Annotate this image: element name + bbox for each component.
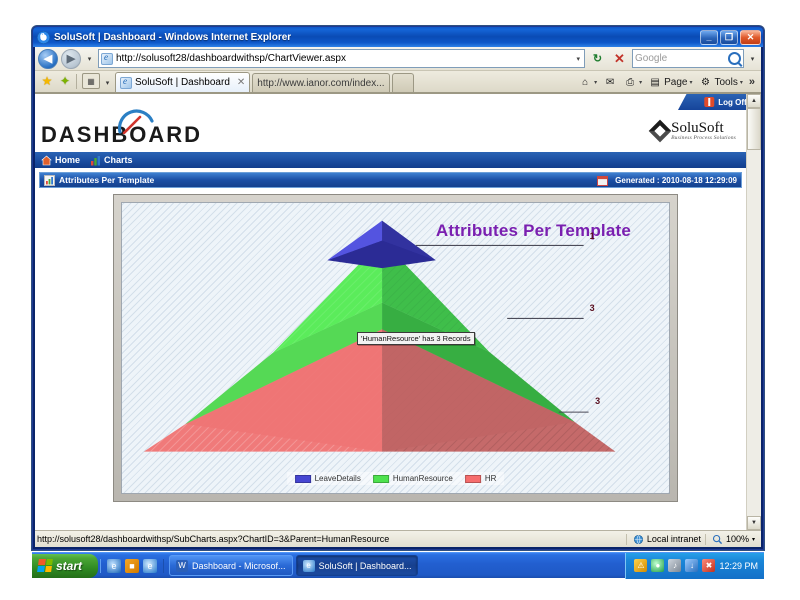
tray-network-icon[interactable]: ● (651, 559, 664, 572)
windows-taskbar: start e ■ e W Dashboard - Microsof... e … (32, 552, 764, 578)
legend-swatch (373, 475, 389, 483)
toolbar-overflow-icon[interactable]: » (747, 76, 757, 88)
tools-menu-label: Tools (715, 77, 738, 88)
word-document-icon: W (176, 560, 188, 572)
window-controls: _ ❐ ✕ (700, 30, 761, 45)
bar-chart-icon (90, 155, 101, 166)
task-buttons: W Dashboard - Microsof... e SoluSoft | D… (164, 555, 625, 576)
security-zone-label: Local intranet (647, 534, 701, 544)
logoff-button[interactable]: Log Off (678, 94, 746, 110)
task-label: Dashboard - Microsof... (192, 561, 286, 571)
nav-item-home[interactable]: Home (41, 155, 80, 166)
tab-label: http://www.ianor.com/index... (257, 78, 384, 89)
chevron-down-icon: ▾ (689, 79, 692, 86)
solusoft-logo: SoluSoft Business Process Solutions (652, 121, 736, 142)
screen-root: SoluSoft | Dashboard - Windows Internet … (0, 0, 800, 600)
chart-tooltip: 'HumanResource' has 3 Records (357, 332, 475, 345)
tab-solusoft-dashboard[interactable]: SoluSoft | Dashboard ✕ (115, 72, 250, 92)
pyramid-chart[interactable] (122, 203, 669, 493)
address-bar[interactable]: http://solusoft28/dashboardwithsp/ChartV… (98, 49, 585, 68)
back-button[interactable]: ◀ (38, 49, 58, 69)
legend-swatch (295, 475, 311, 483)
zoom-icon (712, 534, 723, 545)
task-button-dashboard-word[interactable]: W Dashboard - Microsof... (169, 555, 293, 576)
solusoft-name: SoluSoft (671, 121, 736, 136)
page-viewport: Log Off DASHBOARD (35, 93, 761, 530)
diamond-icon (649, 120, 672, 143)
tools-menu[interactable]: ⚙ Tools ▾ (697, 74, 745, 90)
stop-button[interactable]: ✕ (610, 49, 629, 68)
legend-item-humanresource[interactable]: HumanResource (373, 474, 453, 483)
history-dropdown-icon[interactable]: ▾ (84, 50, 95, 68)
print-command[interactable]: ⎙ ▾ (621, 74, 644, 90)
tab-list-dropdown-icon[interactable]: ▾ (102, 74, 113, 92)
nav-item-charts[interactable]: Charts (90, 155, 133, 166)
brand-header: DASHBOARD SoluSoft Business Process Solu… (35, 110, 746, 152)
start-button[interactable]: start (32, 554, 98, 578)
window-titlebar[interactable]: SoluSoft | Dashboard - Windows Internet … (33, 27, 763, 47)
stop-icon: ✕ (614, 51, 625, 67)
search-input[interactable]: Google (635, 53, 728, 64)
gauge-icon (118, 108, 154, 134)
legend-swatch (465, 475, 481, 483)
mail-icon: ✉ (603, 75, 617, 89)
tray-antivirus-icon[interactable]: ✖ (702, 559, 715, 572)
calendar-icon (597, 175, 608, 186)
scroll-up-button[interactable]: ▲ (747, 94, 761, 108)
panel-title: Attributes Per Template (59, 175, 154, 185)
nav-label: Charts (104, 155, 133, 165)
taskbar-clock[interactable]: 12:29 PM (719, 561, 758, 571)
logoff-region: Log Off (678, 94, 746, 110)
chart-legend: LeaveDetails HumanResource HR (287, 472, 505, 485)
intranet-icon (633, 534, 644, 545)
status-bar: http://solusoft28/dashboardwithsp/SubCha… (35, 530, 761, 547)
nav-label: Home (55, 155, 80, 165)
scrollbar-thumb[interactable] (747, 108, 761, 150)
chevron-down-icon: ▾ (594, 79, 597, 86)
scrollbar-track[interactable] (747, 108, 761, 516)
tray-volume-icon[interactable]: ♪ (668, 559, 681, 572)
command-bar: ⌂ ▾ ✉ ⎙ ▾ ▤ Page ▾ (576, 74, 757, 92)
restore-button[interactable]: ❐ (720, 30, 738, 45)
tab-bar: ★ ✦ ▦ ▾ SoluSoft | Dashboard ✕ http://ww… (35, 71, 761, 93)
show-desktop-icon[interactable]: ■ (125, 559, 139, 573)
legend-label: HR (485, 474, 497, 483)
dashboard-page: Log Off DASHBOARD (35, 94, 746, 530)
system-tray: ⚠ ● ♪ ↓ ✖ 12:29 PM (625, 553, 764, 579)
page-scrollbar[interactable]: ▲ ▼ (746, 94, 761, 530)
window-title: SoluSoft | Dashboard - Windows Internet … (54, 32, 700, 43)
page-menu[interactable]: ▤ Page ▾ (646, 74, 694, 90)
zoom-level: 100% (726, 534, 749, 544)
gear-icon: ⚙ (699, 75, 713, 89)
close-button[interactable]: ✕ (740, 30, 761, 45)
solusoft-tagline: Business Process Solutions (671, 136, 736, 142)
ie-logo-icon (37, 31, 50, 44)
favorites-center-icon[interactable]: ★ (39, 73, 55, 89)
tray-update-icon[interactable]: ↓ (685, 559, 698, 572)
internet-explorer-icon: e (303, 560, 315, 572)
site-nav-bar: Home Charts (35, 152, 746, 168)
home-icon: ⌂ (578, 75, 592, 89)
chart-panel: Attributes Per Template (113, 194, 678, 502)
restore-icon: ❐ (721, 31, 737, 44)
page-favicon-icon (101, 53, 113, 65)
task-button-solusoft-dashboard[interactable]: e SoluSoft | Dashboard... (296, 555, 419, 576)
quick-tabs-button[interactable]: ▦ (82, 73, 100, 89)
tab-close-icon[interactable]: ✕ (237, 77, 245, 88)
dashboard-logo: DASHBOARD (41, 114, 202, 148)
browser-window: SoluSoft | Dashboard - Windows Internet … (32, 26, 764, 550)
navigation-toolbar: ◀ ▶ ▾ http://solusoft28/dashboardwithsp/… (35, 47, 761, 71)
generated-timestamp: Generated : 2010-08-18 12:29:09 (615, 176, 737, 185)
tray-security-icon[interactable]: ⚠ (634, 559, 647, 572)
refresh-icon: ↻ (593, 52, 602, 65)
browser-shortcut-icon[interactable]: e (143, 559, 157, 573)
logoff-label: Log Off (718, 98, 746, 107)
browser-chrome: ◀ ▶ ▾ http://solusoft28/dashboardwithsp/… (35, 47, 761, 547)
tab-favicon-icon (120, 77, 132, 89)
chevron-down-icon: ▾ (740, 79, 743, 86)
quick-launch-bar: e ■ e (100, 559, 164, 573)
status-link-url: http://solusoft28/dashboardwithsp/SubCha… (37, 534, 622, 544)
start-label: start (56, 559, 82, 573)
minimize-icon: _ (701, 31, 717, 44)
bar-chart-icon (44, 175, 55, 186)
printer-icon: ⎙ (623, 75, 637, 89)
legend-label: LeaveDetails (315, 474, 361, 483)
chart-canvas[interactable]: Attributes Per Template (121, 202, 670, 494)
address-dropdown-icon[interactable]: ▾ (574, 55, 582, 63)
windows-flag-icon (37, 559, 53, 572)
scroll-down-button[interactable]: ▼ (747, 516, 761, 530)
tab-label: SoluSoft | Dashboard (135, 77, 230, 88)
forward-button[interactable]: ▶ (61, 49, 81, 69)
panel-generated: Generated : 2010-08-18 12:29:09 (597, 175, 737, 186)
forward-arrow-icon: ▶ (62, 50, 80, 68)
minimize-button[interactable]: _ (700, 30, 718, 45)
search-provider-dropdown-icon[interactable]: ▾ (747, 50, 758, 68)
tab-ianor[interactable]: http://www.ianor.com/index... (252, 73, 389, 92)
toolbar-separator (76, 74, 77, 89)
security-zone[interactable]: Local intranet (626, 534, 701, 545)
logoff-icon (704, 97, 714, 107)
legend-label: HumanResource (393, 474, 453, 483)
search-box[interactable]: Google (632, 49, 744, 68)
back-arrow-icon: ◀ (39, 50, 57, 68)
search-icon[interactable] (728, 52, 741, 65)
page-icon: ▤ (648, 75, 662, 89)
new-tab-button[interactable] (392, 73, 414, 92)
refresh-button[interactable]: ↻ (588, 49, 607, 68)
home-icon (41, 155, 52, 166)
legend-item-leavedetails[interactable]: LeaveDetails (295, 474, 361, 483)
chevron-down-icon: ▾ (639, 79, 642, 86)
internet-explorer-icon[interactable]: e (107, 559, 121, 573)
close-icon: ✕ (741, 31, 760, 44)
quick-tabs-icon: ▦ (87, 77, 95, 86)
task-label: SoluSoft | Dashboard... (319, 561, 412, 571)
page-menu-label: Page (664, 77, 687, 88)
chevron-down-icon[interactable]: ▾ (752, 536, 755, 543)
address-input[interactable]: http://solusoft28/dashboardwithsp/ChartV… (116, 53, 571, 64)
feeds-command[interactable]: ✉ (601, 74, 619, 90)
zoom-control[interactable]: 100% ▾ (705, 534, 759, 545)
panel-header: Attributes Per Template Generated : 2010… (39, 172, 742, 188)
home-command[interactable]: ⌂ ▾ (576, 74, 599, 90)
legend-item-hr[interactable]: HR (465, 474, 497, 483)
add-to-favorites-icon[interactable]: ✦ (57, 73, 73, 89)
